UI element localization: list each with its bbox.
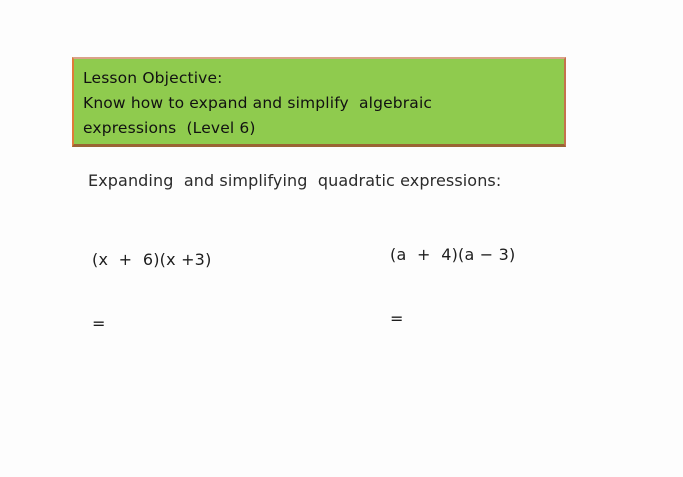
slide-canvas: Lesson Objective: Know how to expand and… xyxy=(0,0,683,477)
problem-column-right: (a + 4)(a − 3) = xyxy=(390,205,515,369)
problem-2-question: (a + 4)(a − 3) xyxy=(390,243,515,267)
lesson-objective-line-3: expressions (Level 6) xyxy=(83,116,564,141)
problem-1-question: (x + 6)(x +3) xyxy=(92,248,212,272)
problem-column-left: (x + 6)(x +3) = xyxy=(92,210,212,374)
problem-2-answer: = xyxy=(390,307,515,331)
lesson-objective-line-2: Know how to expand and simplify algebrai… xyxy=(83,91,564,116)
lesson-objective-box: Lesson Objective: Know how to expand and… xyxy=(72,57,566,147)
section-heading: Expanding and simplifying quadratic expr… xyxy=(88,170,501,192)
lesson-objective-title: Lesson Objective: xyxy=(83,66,564,91)
problem-1-answer: = xyxy=(92,312,212,336)
